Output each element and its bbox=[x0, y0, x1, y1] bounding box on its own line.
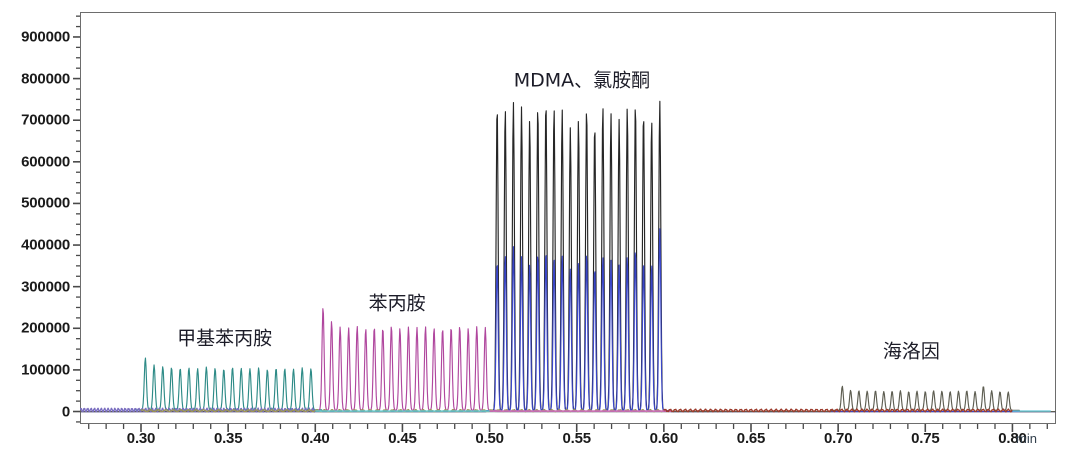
annotation-methamphetamine: 甲基苯丙胺 bbox=[177, 323, 272, 350]
x-tick-label: 0.30 bbox=[127, 430, 155, 447]
y-tick-label: 900000 bbox=[21, 28, 70, 45]
x-tick-label: 0.55 bbox=[563, 430, 591, 447]
y-tick-label: 200000 bbox=[21, 320, 70, 337]
x-tick-label: 0.65 bbox=[737, 430, 765, 447]
chromatogram-figure: 0100000200000300000400000500000600000700… bbox=[0, 0, 1080, 466]
y-tick-label: 500000 bbox=[21, 195, 70, 212]
annotation-amphetamine: 苯丙胺 bbox=[369, 289, 426, 316]
annotation-mdma-ketamine: MDMA、氯胺酮 bbox=[514, 65, 650, 92]
y-tick-label: 0 bbox=[62, 403, 70, 420]
y-tick-label: 700000 bbox=[21, 112, 70, 129]
annotation-heroin: 海洛因 bbox=[883, 336, 940, 363]
y-tick-label: 300000 bbox=[21, 278, 70, 295]
x-tick-label: 0.60 bbox=[650, 430, 678, 447]
x-axis-unit-label: min bbox=[1016, 431, 1037, 446]
y-tick-label: 100000 bbox=[21, 361, 70, 378]
x-tick-label: 0.70 bbox=[824, 430, 852, 447]
y-tick-label: 400000 bbox=[21, 237, 70, 254]
x-tick-label: 0.35 bbox=[214, 430, 242, 447]
y-tick-label: 800000 bbox=[21, 70, 70, 87]
y-tick-label: 600000 bbox=[21, 153, 70, 170]
x-tick-label: 0.75 bbox=[911, 430, 939, 447]
x-tick-label: 0.45 bbox=[388, 430, 416, 447]
x-tick-label: 0.40 bbox=[301, 430, 329, 447]
x-tick-label: 0.50 bbox=[475, 430, 503, 447]
